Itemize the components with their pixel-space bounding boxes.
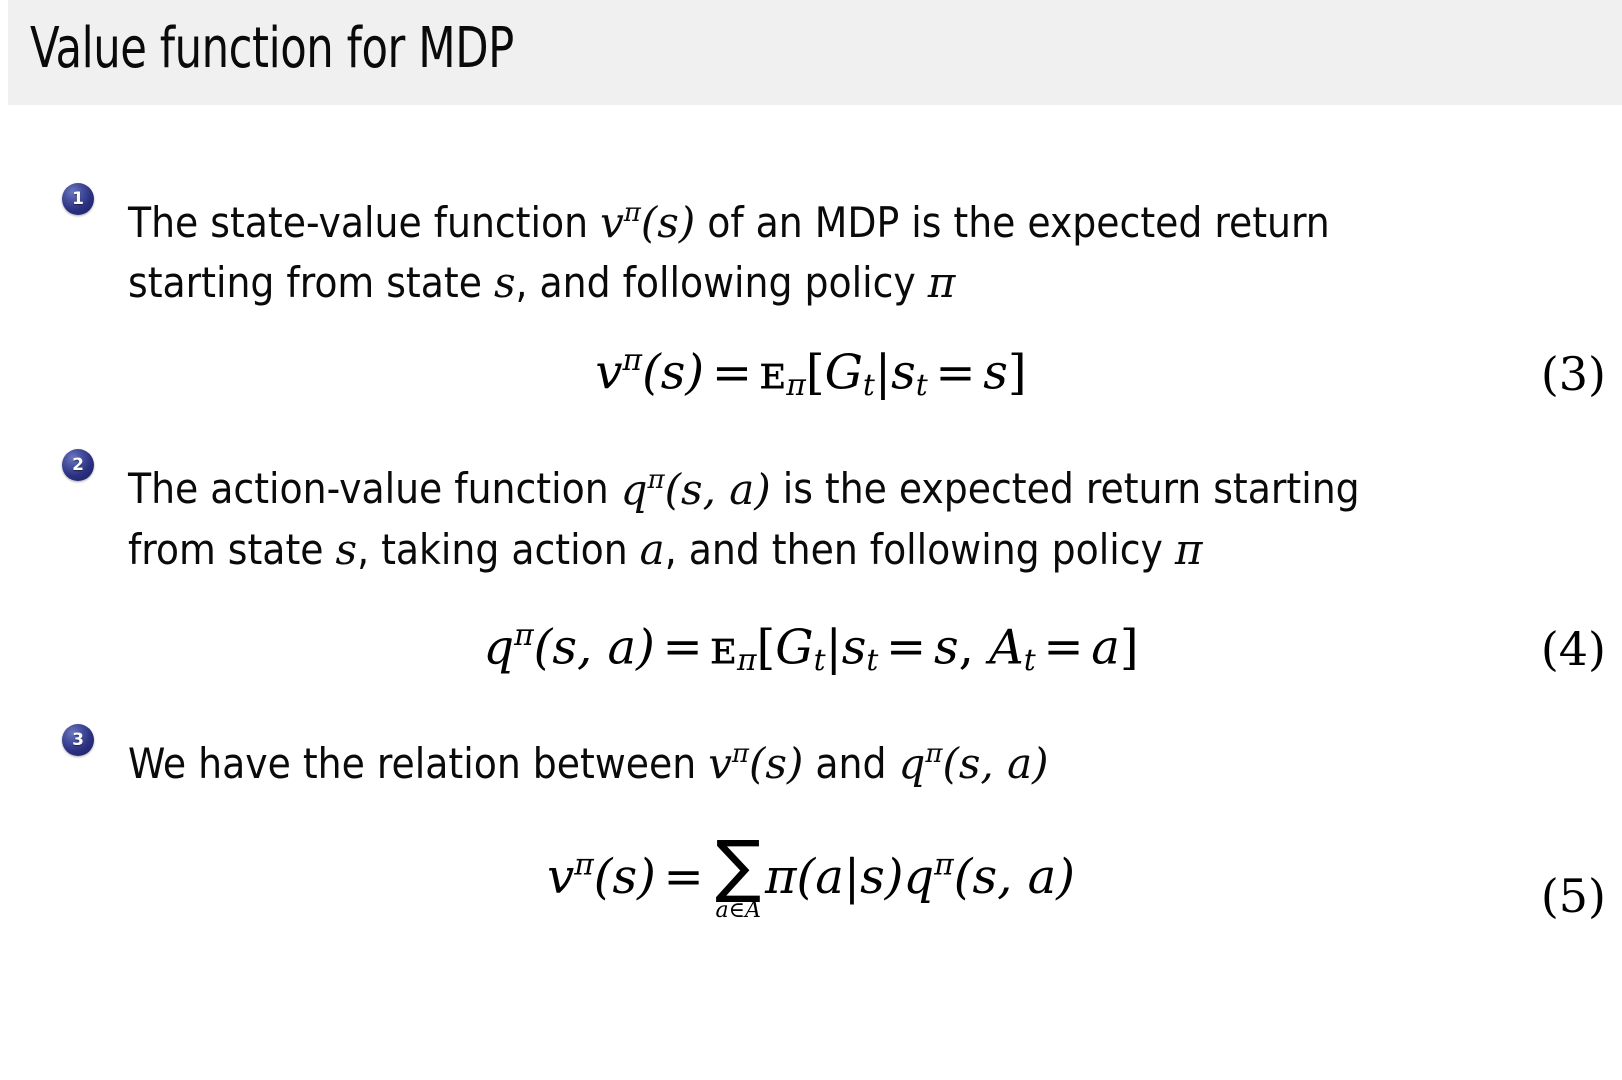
summation-operator: ∑a∈A [715, 838, 761, 923]
eq4-return-symbol: G [775, 619, 813, 675]
item-1-text-d: , and following policy [516, 258, 928, 307]
eq4-comma: , [959, 619, 990, 675]
eq5-equals: = [656, 849, 712, 905]
eq4-bracket-open: [ [757, 619, 776, 675]
eq4-lhs-fn: q [483, 619, 514, 675]
item-2-math-s: s [336, 525, 358, 574]
item-1-paragraph: The state-value function vπ(s) of an MDP… [128, 183, 1472, 313]
list-item: 3 We have the relation between vπ(s) and… [0, 724, 1622, 794]
item-2-math-q-arg: (s, a) [665, 465, 771, 514]
list-item: 1 The state-value function vπ(s) of an M… [0, 183, 1622, 313]
item-3-text: 3 We have the relation between vπ(s) and… [0, 724, 1622, 794]
item-1-text-a: The state-value function [128, 198, 600, 247]
eq5-policy-arg: (a|s) [797, 849, 904, 905]
eq4-expectation-sub: π [737, 643, 757, 678]
eq5-lhs-sup: π [574, 847, 594, 882]
eq3-expectation-sub: π [786, 368, 806, 403]
eq4-return-sub: t [814, 643, 826, 678]
item-1-math-v-arg: (s) [641, 198, 695, 247]
item-1-text: 1 The state-value function vπ(s) of an M… [0, 183, 1622, 313]
eq4-conditional-bar: | [826, 619, 842, 675]
eq4-action-sub: t [1024, 643, 1036, 678]
eq4-state-sub: t [866, 643, 878, 678]
item-2-text-c: from state [128, 525, 336, 574]
eq3-lhs-sup: π [623, 343, 643, 378]
item-3-text-a: We have the relation between [128, 739, 708, 788]
bullet-number-3: 3 [62, 724, 94, 756]
eq4-expectation-symbol: ᴇ [710, 619, 737, 675]
equation-5-number: (5) [1541, 869, 1606, 923]
slide: Value function for MDP 1 The state-value… [0, 0, 1622, 1080]
slide-body: 1 The state-value function vπ(s) of an M… [0, 105, 1622, 1080]
eq5-q-arg: (s, a) [954, 849, 1075, 905]
item-2-text-a: The action-value function [128, 465, 621, 514]
eq3-equals: = [704, 345, 760, 401]
item-1-text-c: starting from state [128, 258, 494, 307]
eq4-bracket-close: ] [1120, 619, 1139, 675]
eq5-q-sup: π [934, 847, 954, 882]
eq5-lhs-arg: (s) [594, 849, 656, 905]
item-2-text-d: , taking action [357, 525, 640, 574]
item-2-text-b: is the expected return starting [771, 465, 1360, 514]
eq5-q-fn: q [903, 849, 934, 905]
eq3-lhs-fn: v [595, 345, 622, 401]
sigma-icon: ∑ [715, 838, 761, 897]
eq4-lhs-sup: π [514, 618, 534, 653]
item-1-math-s: s [494, 258, 516, 307]
eq4-state-symbol: s [842, 619, 867, 675]
item-1-math-v-sup: π [624, 198, 641, 228]
item-2-math-q-sup: π [648, 464, 665, 494]
equation-5-body: vπ(s)=∑a∈Aπ(a|s)qπ(s, a) [547, 838, 1075, 923]
slide-title-bar: Value function for MDP [8, 0, 1622, 105]
item-3-paragraph: We have the relation between vπ(s) and q… [128, 724, 1472, 794]
equation-3-number: (3) [1541, 347, 1606, 401]
equation-4-number: (4) [1541, 622, 1606, 676]
item-2-math-a: a [640, 525, 665, 574]
item-2-text: 2 The action-value function qπ(s, a) is … [0, 449, 1622, 579]
eq3-conditional-bar: | [875, 345, 891, 401]
eq3-state-value: s [983, 345, 1008, 401]
eq3-state-symbol: s [891, 345, 916, 401]
item-1-math-v: vπ(s) [600, 198, 695, 247]
item-2-math-pi: π [1175, 525, 1203, 574]
equation-3-body: vπ(s)=ᴇπ[Gt|st=s] [595, 345, 1026, 401]
item-3-math-v: vπ(s) [708, 739, 803, 788]
item-2-text-e: , and then following policy [665, 525, 1175, 574]
eq4-equals-2: = [878, 619, 934, 675]
eq3-lhs-arg: (s) [642, 345, 704, 401]
eq3-equals-2: = [928, 345, 984, 401]
item-3-math-v-arg: (s) [749, 739, 803, 788]
item-3-math-q-sup: π [925, 739, 942, 769]
equation-4: qπ(s, a)=ᴇπ[Gt|st=s, At=a] (4) [0, 620, 1622, 676]
item-1-text-b: of an MDP is the expected return [695, 198, 1330, 247]
eq3-state-sub: t [916, 368, 928, 403]
equation-3: vπ(s)=ᴇπ[Gt|st=s] (3) [0, 345, 1622, 401]
eq4-action-value: a [1091, 619, 1120, 675]
item-1-math-pi: π [928, 258, 956, 307]
eq4-lhs-arg: (s, a) [534, 619, 655, 675]
page-title: Value function for MDP [30, 16, 514, 81]
item-2-paragraph: The action-value function qπ(s, a) is th… [128, 449, 1472, 579]
eq3-bracket-open: [ [806, 345, 825, 401]
item-3-text-b: and [803, 739, 898, 788]
eq3-return-symbol: G [825, 345, 863, 401]
eq5-sum-limit: a∈A [715, 900, 761, 922]
item-3-math-v-sup: π [732, 739, 749, 769]
eq4-equals: = [655, 619, 711, 675]
eq3-bracket-close: ] [1008, 345, 1027, 401]
item-2-math-q: qπ(s, a) [621, 465, 771, 514]
eq4-action-symbol: A [989, 619, 1024, 675]
item-3-math-q-arg: (s, a) [942, 739, 1048, 788]
eq4-equals-3: = [1036, 619, 1092, 675]
eq4-state-value: s [934, 619, 959, 675]
eq5-lhs-fn: v [547, 849, 574, 905]
eq3-expectation-symbol: ᴇ [760, 345, 787, 401]
eq3-return-sub: t [863, 368, 875, 403]
equation-5: vπ(s)=∑a∈Aπ(a|s)qπ(s, a) (5) [0, 838, 1622, 923]
list-item: 2 The action-value function qπ(s, a) is … [0, 449, 1622, 579]
bullet-number-2: 2 [62, 449, 94, 481]
equation-4-body: qπ(s, a)=ᴇπ[Gt|st=s, At=a] [483, 620, 1138, 676]
item-3-math-q: qπ(s, a) [898, 739, 1048, 788]
eq5-policy-symbol: π [765, 849, 797, 905]
bullet-number-1: 1 [62, 183, 94, 215]
